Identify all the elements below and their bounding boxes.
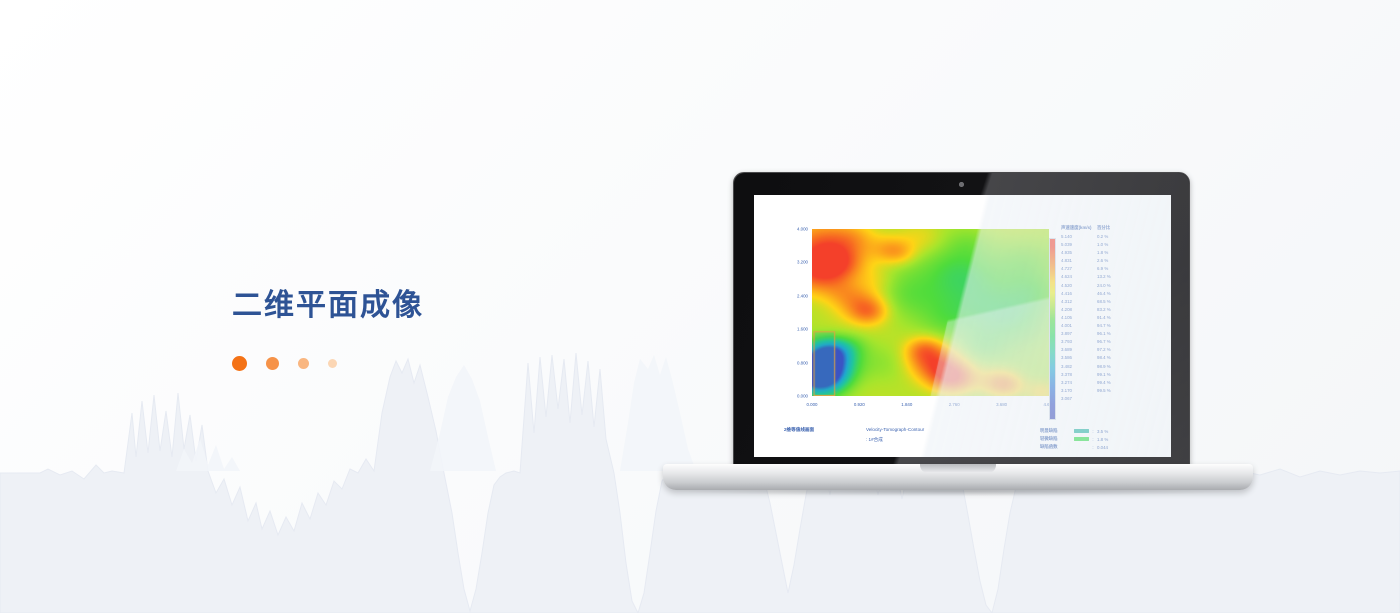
- tomography-chart-app: 4.0003.2002.4001.6000.8000.000 0.0000.92…: [754, 195, 1171, 457]
- colorbar-level-row: 3.58698.4 %: [1061, 354, 1167, 362]
- level-value: 4.105: [1061, 314, 1097, 322]
- level-percent: 97.2 %: [1097, 346, 1133, 354]
- chart-footer: 2维等值线画面 Velocity-Tomograph-Contour : 1#合…: [754, 427, 1171, 457]
- defect-color-swatch: [1074, 437, 1089, 442]
- level-value: 5.039: [1061, 241, 1097, 249]
- level-value: 3.689: [1061, 346, 1097, 354]
- level-value: 4.208: [1061, 306, 1097, 314]
- level-percent: 1.0 %: [1097, 241, 1133, 249]
- level-value: 3.274: [1061, 379, 1097, 387]
- level-percent: 0.2 %: [1097, 233, 1133, 241]
- page-root: 二维平面成像 4.0003.2002.4001.6000.8000.000 0.…: [0, 0, 1400, 613]
- defect-value: 3.5 %: [1097, 429, 1108, 434]
- y-tick-label: 2.400: [797, 293, 808, 298]
- level-percent: 99.5 %: [1097, 387, 1133, 395]
- legend-header: 声速速度(km/s)百分比: [1061, 225, 1167, 231]
- level-percent: 24.0 %: [1097, 282, 1133, 290]
- level-percent: 13.2 %: [1097, 273, 1133, 281]
- colorbar-level-row: 3.68997.2 %: [1061, 346, 1167, 354]
- level-value: 3.793: [1061, 338, 1097, 346]
- defect-label: 缺陷函数: [1040, 444, 1066, 450]
- level-percent: 46.4 %: [1097, 290, 1133, 298]
- decorative-dots-row: [232, 352, 652, 374]
- level-percent: 6.9 %: [1097, 265, 1133, 273]
- defect-colon: :: [1089, 445, 1097, 450]
- laptop-screen: 4.0003.2002.4001.6000.8000.000 0.0000.92…: [754, 195, 1171, 457]
- colorbar-level-row: 3.89796.1 %: [1061, 330, 1167, 338]
- x-tick-label: 3.680: [996, 402, 1007, 407]
- level-percent: 2.6 %: [1097, 257, 1133, 265]
- colorbar-legend-block: 声速速度(km/s)百分比 5.1400.2 %5.0391.0 %4.9351…: [1049, 225, 1167, 421]
- y-tick-label: 4.000: [797, 227, 808, 232]
- defect-summary-legend: 明显缺陷:3.5 %轻微缺陷:1.8 %缺陷函数:0.044: [1040, 427, 1166, 451]
- y-tick-label: 1.600: [797, 327, 808, 332]
- colorbar-level-row: 3.067: [1061, 395, 1167, 403]
- level-percent: 99.1 %: [1097, 371, 1133, 379]
- colorbar-level-row: 3.27499.4 %: [1061, 379, 1167, 387]
- laptop-base-notch: [920, 464, 996, 473]
- y-tick-label: 3.200: [797, 260, 808, 265]
- level-percent: 1.8 %: [1097, 249, 1133, 257]
- defect-summary-row: 缺陷函数:0.044: [1040, 443, 1166, 451]
- level-value: 4.831: [1061, 257, 1097, 265]
- page-title: 二维平面成像: [232, 288, 652, 324]
- level-percent: 83.2 %: [1097, 306, 1133, 314]
- level-value: 3.482: [1061, 363, 1097, 371]
- colorbar-level-row: 3.37899.1 %: [1061, 371, 1167, 379]
- defect-colon: :: [1089, 429, 1097, 434]
- colorbar-level-row: 4.20883.2 %: [1061, 306, 1167, 314]
- level-percent: 91.4 %: [1097, 314, 1133, 322]
- level-value: 4.520: [1061, 282, 1097, 290]
- velocity-contour-heatmap[interactable]: [812, 229, 1049, 396]
- colorbar-level-row: 5.0391.0 %: [1061, 241, 1167, 249]
- colorbar-level-row: 4.8312.6 %: [1061, 257, 1167, 265]
- contour-plot-area[interactable]: [812, 229, 1049, 396]
- colorbar-level-row: 3.48298.9 %: [1061, 363, 1167, 371]
- colorbar-gradient: [1049, 238, 1056, 420]
- dot-1: [232, 356, 247, 371]
- colorbar-level-row: 3.79396.7 %: [1061, 338, 1167, 346]
- level-value: 3.586: [1061, 354, 1097, 362]
- panel-label: 2维等值线画面: [784, 427, 814, 433]
- level-percent: 96.7 %: [1097, 338, 1133, 346]
- dot-2: [266, 357, 279, 370]
- level-value: 4.416: [1061, 290, 1097, 298]
- colorbar-level-row: 5.1400.2 %: [1061, 233, 1167, 241]
- chart-subtitle: : 1#合成: [866, 437, 924, 443]
- level-value: 3.378: [1061, 371, 1097, 379]
- colorbar-level-row: 4.10591.4 %: [1061, 314, 1167, 322]
- x-tick-label: 1.840: [901, 402, 912, 407]
- level-value: 4.727: [1061, 265, 1097, 273]
- level-value: 4.312: [1061, 298, 1097, 306]
- level-value: 5.140: [1061, 233, 1097, 241]
- colorbar-level-row: 4.7276.9 %: [1061, 265, 1167, 273]
- level-value: 3.170: [1061, 387, 1097, 395]
- defect-label: 轻微缺陷: [1040, 436, 1066, 442]
- colorbar-level-row: 4.9351.8 %: [1061, 249, 1167, 257]
- level-value: 4.001: [1061, 322, 1097, 330]
- chart-title-block: Velocity-Tomograph-Contour : 1#合成: [866, 427, 924, 443]
- defect-summary-row: 轻微缺陷:1.8 %: [1040, 435, 1166, 443]
- x-tick-label: 0.000: [807, 402, 818, 407]
- level-value: 3.897: [1061, 330, 1097, 338]
- laptop-mockup: 4.0003.2002.4001.6000.8000.000 0.0000.92…: [663, 172, 1253, 502]
- legend-header-percent: 百分比: [1097, 225, 1110, 230]
- defect-color-swatch: [1074, 445, 1089, 450]
- level-value: 4.624: [1061, 273, 1097, 281]
- colorbar-level-row: 4.00194.7 %: [1061, 322, 1167, 330]
- y-tick-label: 0.800: [797, 360, 808, 365]
- colorbar-level-row: 3.17099.5 %: [1061, 387, 1167, 395]
- chart-title: Velocity-Tomograph-Contour: [866, 427, 924, 432]
- level-value: 4.935: [1061, 249, 1097, 257]
- defect-colon: :: [1089, 437, 1097, 442]
- legend-header-value: 声速速度(km/s): [1061, 225, 1097, 231]
- defect-summary-row: 明显缺陷:3.5 %: [1040, 427, 1166, 435]
- webcam-icon: [959, 182, 964, 187]
- colorbar-level-row: 4.41646.4 %: [1061, 290, 1167, 298]
- level-percent: 99.4 %: [1097, 379, 1133, 387]
- level-percent: 96.1 %: [1097, 330, 1133, 338]
- defect-value: 0.044: [1097, 445, 1108, 450]
- level-percent: 94.7 %: [1097, 322, 1133, 330]
- x-tick-label: 0.920: [854, 402, 865, 407]
- level-value: 3.067: [1061, 395, 1097, 403]
- colorbar-level-row: 4.62413.2 %: [1061, 273, 1167, 281]
- y-tick-label: 0.000: [797, 394, 808, 399]
- level-percent: 98.4 %: [1097, 354, 1133, 362]
- dot-4: [328, 359, 337, 368]
- colorbar-level-row: 4.52024.0 %: [1061, 282, 1167, 290]
- defect-color-swatch: [1074, 429, 1089, 434]
- defect-value: 1.8 %: [1097, 437, 1108, 442]
- x-tick-label: 2.760: [949, 402, 960, 407]
- dot-3: [298, 358, 309, 369]
- colorbar-level-row: 4.31268.5 %: [1061, 298, 1167, 306]
- level-percent: 98.9 %: [1097, 363, 1133, 371]
- laptop-lid: 4.0003.2002.4001.6000.8000.000 0.0000.92…: [733, 172, 1190, 468]
- legend-rows: 5.1400.2 %5.0391.0 %4.9351.8 %4.8312.6 %…: [1061, 233, 1167, 403]
- defect-label: 明显缺陷: [1040, 428, 1066, 434]
- laptop-base: [663, 464, 1253, 490]
- level-percent: 68.5 %: [1097, 298, 1133, 306]
- headline-block: 二维平面成像: [232, 288, 652, 374]
